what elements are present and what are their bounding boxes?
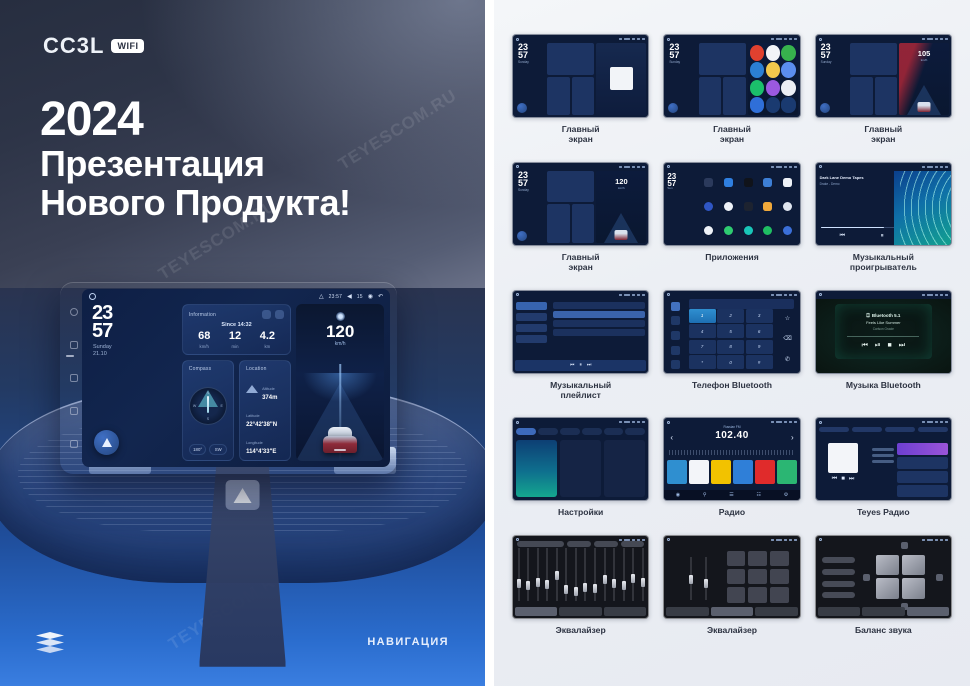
- eq-band[interactable]: [536, 545, 539, 605]
- gallery-caption: Музыкальныйплейлист: [550, 380, 611, 401]
- gallery-item[interactable]: ⏮ ⏸ ⏭ Музыкальныйплейлист: [512, 290, 649, 401]
- eq-band[interactable]: [574, 545, 577, 605]
- fader-sliders[interactable]: [683, 554, 713, 603]
- compass-dir-e: E: [221, 404, 223, 408]
- compass-dir-s: S: [207, 417, 209, 421]
- hero-headline-1: Презентация: [40, 145, 351, 184]
- radio-next-icon[interactable]: ›: [791, 433, 794, 442]
- hero-headline-2: Нового Продукта!: [40, 184, 351, 223]
- gallery-caption: Музыка Bluetooth: [846, 380, 921, 390]
- speaker-stage[interactable]: [872, 551, 929, 603]
- clock-date: 21.10: [88, 351, 177, 358]
- gallery-item[interactable]: Настройки: [512, 417, 649, 517]
- clock-day: Sunday: [88, 344, 177, 351]
- radio-presets[interactable]: [667, 460, 796, 484]
- presentation-page: TEYESCOM.RU TEYESCOM.RU TEYESCOM.RU: [0, 0, 970, 686]
- altitude-value: 374m: [262, 395, 277, 401]
- thumbnail-bt-music[interactable]: ⎅Bluetooth 5.1 Feels Like Summer Carlson…: [815, 290, 952, 374]
- back-icon[interactable]: ↶: [378, 294, 383, 300]
- gallery-item[interactable]: ⎅Bluetooth 5.1 Feels Like Summer Carlson…: [815, 290, 952, 401]
- compass-heading: 180°: [189, 444, 207, 455]
- equalizer-tabs[interactable]: [818, 607, 949, 616]
- compass-card[interactable]: Compass N E S W: [182, 360, 234, 461]
- bezel-volume-up-icon[interactable]: [70, 440, 78, 448]
- thumbnail-equalizer-presets[interactable]: [663, 535, 800, 619]
- stat-duration: 12 min: [229, 331, 241, 349]
- radio-tuning-scale[interactable]: [669, 450, 794, 455]
- search-icon[interactable]: ⚲: [703, 492, 707, 498]
- compass-quadrant: SW: [209, 444, 227, 455]
- wifi-settings-card[interactable]: [516, 440, 557, 497]
- list-icon[interactable]: ☰: [729, 492, 733, 498]
- gallery-item[interactable]: 2357Sunday Главныйэкран: [512, 34, 649, 145]
- gallery-caption: Музыкальныйпроигрыватель: [850, 252, 917, 273]
- car-3d-model: [323, 427, 357, 453]
- mountain-icon: [246, 385, 258, 393]
- carplay-settings-card[interactable]: [560, 440, 601, 497]
- bluetooth-icon: ⎅: [866, 313, 870, 318]
- bezel-home-icon[interactable]: [70, 341, 78, 349]
- status-bar: △ 23:57 ◀ 15 ◉ ↶: [82, 289, 390, 304]
- thumbnail-home-drive-105[interactable]: 2357Sunday 105km/h: [815, 34, 952, 118]
- gallery-caption: Настройки: [558, 507, 603, 517]
- thumbnail-bt-phone[interactable]: 1 2 3 4 5 6 7 8 9 * 0 # ☆: [663, 290, 800, 374]
- backspace-icon[interactable]: ⌫: [783, 335, 791, 342]
- eq-band[interactable]: [555, 545, 558, 605]
- clock-minutes: 57: [88, 322, 177, 340]
- product-logo: CC3L WIFI: [43, 33, 144, 59]
- thumbnail-home-drive-120[interactable]: 2357Sunday 120km/h: [512, 162, 649, 246]
- hero-panel: TEYESCOM.RU TEYESCOM.RU TEYESCOM.RU: [0, 0, 485, 686]
- more-settings-card[interactable]: [604, 440, 645, 497]
- radio-toolbar[interactable]: ◉ ⚲ ☰ ☷ ⚙: [664, 490, 799, 500]
- eq-band[interactable]: [594, 545, 597, 605]
- bt-track-artist: Carlson Gracie: [873, 327, 894, 331]
- pause-icon[interactable]: ⏸: [579, 362, 582, 368]
- balance-presets[interactable]: [822, 554, 854, 602]
- thumbnail-settings[interactable]: [512, 417, 649, 501]
- logo-text: CC3L: [43, 33, 104, 59]
- head-unit-screen[interactable]: △ 23:57 ◀ 15 ◉ ↶ 23 57 Sunday 21.10: [82, 289, 390, 467]
- gallery-item[interactable]: Russian FM ‹ 102.40 › ◉ ⚲ ☰ ☷ ⚙: [663, 417, 800, 517]
- compass-needle: [207, 396, 209, 413]
- stat-duration-value: 12: [229, 331, 241, 343]
- mini-speed-value: 105km/h: [899, 49, 949, 62]
- thumbnail-music-player[interactable]: Dark Lane Demo Tapes Drake - Demo ⏮ ⏸ ⏭: [815, 162, 952, 246]
- next-icon[interactable]: ⏭: [849, 476, 854, 483]
- previous-icon[interactable]: ⏮: [840, 233, 845, 240]
- latitude-value: 22°42'38"N: [246, 422, 284, 428]
- gallery-grid: 2357Sunday Главныйэкран: [512, 34, 952, 635]
- speed-unit: km/h: [296, 341, 384, 347]
- teyes-radio-player[interactable]: ⏮ ■ ⏭: [819, 443, 868, 497]
- thumbnail-apps[interactable]: 2357Sun: [663, 162, 800, 246]
- information-since: Since 14:32: [189, 322, 285, 328]
- eq-band[interactable]: [641, 545, 644, 605]
- teyes-radio-tabs[interactable]: [819, 427, 948, 432]
- bezel-volume-down-icon[interactable]: [70, 407, 78, 415]
- refresh-icon[interactable]: [262, 310, 271, 319]
- eq-band[interactable]: [603, 545, 606, 605]
- bezel-button-plus[interactable]: [66, 355, 74, 357]
- page-title: 2024 Презентация Нового Продукта!: [40, 96, 351, 223]
- stop-icon[interactable]: ■: [841, 476, 845, 483]
- gallery-item[interactable]: 2357Sunday Главныйэкран: [663, 34, 800, 145]
- eq-band[interactable]: [622, 545, 625, 605]
- dialpad-key[interactable]: 6: [746, 324, 773, 338]
- dialpad-key[interactable]: *: [689, 355, 716, 369]
- settings-tabs[interactable]: [516, 428, 645, 435]
- play-pause-icon[interactable]: ⏯: [875, 342, 881, 350]
- screenshot-gallery: 2357Sunday Главныйэкран: [485, 0, 970, 686]
- dialpad-key[interactable]: #: [746, 355, 773, 369]
- wifi-icon: △: [319, 294, 324, 300]
- bt-seek-bar[interactable]: [847, 336, 919, 337]
- screen-body: 23 57 Sunday 21.10 Information: [82, 304, 390, 467]
- mini-nav-fab: [820, 103, 830, 113]
- dialpad-key[interactable]: 5: [717, 324, 744, 338]
- album-art: [828, 443, 857, 472]
- eq-band[interactable]: [613, 545, 616, 605]
- dialpad-key[interactable]: 9: [746, 340, 773, 354]
- balance-right-button[interactable]: [936, 574, 943, 581]
- thumbnail-home-apps[interactable]: 2357Sunday: [663, 34, 800, 118]
- dialpad-key[interactable]: 1: [689, 309, 716, 323]
- balance-up-button[interactable]: [901, 542, 908, 549]
- dialpad-key[interactable]: 7: [689, 340, 716, 354]
- gallery-item[interactable]: Dark Lane Demo Tapes Drake - Demo ⏮ ⏸ ⏭ …: [815, 162, 952, 273]
- thumbnail-playlist[interactable]: ⏮ ⏸ ⏭: [512, 290, 649, 374]
- bezel-power-icon[interactable]: [70, 308, 78, 316]
- gallery-caption: Teyes Радио: [857, 507, 910, 517]
- stat-speed-unit: km/h: [198, 344, 210, 349]
- eq-band[interactable]: [584, 545, 587, 605]
- dialpad-key[interactable]: 2: [717, 309, 744, 323]
- stat-speed: 68 km/h: [198, 331, 210, 349]
- clock-column: 23 57 Sunday 21.10: [88, 304, 177, 461]
- layers-icon: [36, 632, 64, 654]
- equalizer-bands[interactable]: [517, 545, 644, 605]
- bt-version: Bluetooth 5.1: [872, 313, 901, 318]
- hero-year: 2024: [40, 96, 351, 145]
- mini-nav-fab: [517, 231, 527, 241]
- eq-band[interactable]: [527, 545, 530, 605]
- pause-icon[interactable]: ⏸: [881, 233, 884, 240]
- settings-icon[interactable]: ⚙: [784, 492, 788, 498]
- drive-view-panel[interactable]: 120 km/h: [296, 304, 384, 461]
- compass-dir-n: N: [207, 391, 210, 395]
- previous-icon[interactable]: ⏮: [832, 476, 837, 483]
- thumbnail-equalizer-bands[interactable]: [512, 535, 649, 619]
- eq-band[interactable]: [632, 545, 635, 605]
- speed-value: 120: [296, 323, 384, 340]
- home-icon[interactable]: [89, 293, 96, 300]
- longitude-label: Longitude: [246, 441, 263, 445]
- information-title: Information: [189, 312, 216, 318]
- eq-band[interactable]: [546, 545, 549, 605]
- gallery-caption: Главныйэкран: [864, 124, 902, 145]
- eq-slider[interactable]: [704, 554, 707, 603]
- navigation-fab-button[interactable]: [94, 430, 119, 455]
- information-card[interactable]: Information Since 14:32 68 km/h: [182, 304, 292, 355]
- gallery-caption: Эквалайзер: [707, 625, 757, 635]
- stat-duration-unit: min: [229, 344, 241, 349]
- dialpad-key[interactable]: 3: [746, 309, 773, 323]
- expand-icon[interactable]: [275, 310, 284, 319]
- previous-icon[interactable]: ⏮: [570, 362, 575, 368]
- eq-icon[interactable]: ☷: [757, 492, 761, 498]
- gallery-caption: Главныйэкран: [562, 124, 600, 145]
- app-grid[interactable]: [700, 172, 797, 242]
- thumbnail-home-music[interactable]: 2357Sunday: [512, 34, 649, 118]
- dialpad-key[interactable]: 0: [717, 355, 744, 369]
- stat-distance-unit: km: [260, 344, 275, 349]
- gallery-item[interactable]: Баланс звука: [815, 535, 952, 635]
- next-icon[interactable]: ⏭: [587, 362, 592, 368]
- compass-dir-w: W: [193, 404, 196, 408]
- eq-band[interactable]: [517, 545, 520, 605]
- status-volume: 15: [357, 294, 363, 300]
- settings-cards[interactable]: [516, 440, 645, 497]
- gallery-item[interactable]: 2357Sun Приложения: [663, 162, 800, 273]
- dialpad-key[interactable]: 8: [717, 340, 744, 354]
- dialpad-key[interactable]: 4: [689, 324, 716, 338]
- favorite-icon[interactable]: ☆: [785, 315, 790, 322]
- compass-rose: N E S W: [189, 372, 227, 441]
- stop-icon[interactable]: ■: [888, 342, 892, 350]
- gallery-item[interactable]: Эквалайзер: [663, 535, 800, 635]
- mini-speed-value: 120km/h: [596, 177, 646, 190]
- location-title: Location: [246, 366, 284, 372]
- track-title: Dark Lane Demo Tapes: [820, 175, 890, 180]
- wifi-badge: WIFI: [111, 39, 144, 53]
- bt-controls[interactable]: ⏮ ⏯ ■ ⏭: [862, 342, 905, 350]
- next-icon[interactable]: ⏭: [899, 342, 905, 350]
- phone-sidebar[interactable]: [664, 299, 686, 373]
- longitude-value: 114°4'33"E: [246, 449, 284, 455]
- gallery-item[interactable]: 2357Sunday 120km/h Главныйэкран: [512, 162, 649, 273]
- car-plate: [334, 449, 346, 452]
- equalizer-tabs[interactable]: [515, 607, 646, 616]
- stat-distance: 4.2 km: [260, 331, 275, 349]
- headlight-icon: [336, 312, 345, 321]
- location-card[interactable]: Location Altitude 374m Latitude: [239, 360, 291, 461]
- speed-readout: 120 km/h: [296, 312, 384, 347]
- gallery-caption: Главныйэкран: [562, 252, 600, 273]
- station-list[interactable]: [897, 443, 948, 497]
- altitude-label: Altitude: [262, 387, 275, 391]
- gallery-item[interactable]: 1 2 3 4 5 6 7 8 9 * 0 # ☆: [663, 290, 800, 401]
- gear-icon[interactable]: ◉: [368, 294, 373, 300]
- latitude-label: Latitude: [246, 414, 260, 418]
- visualizer: [894, 171, 951, 245]
- head-unit-device: △ 23:57 ◀ 15 ◉ ↶ 23 57 Sunday 21.10: [60, 282, 397, 474]
- dialpad[interactable]: 1 2 3 4 5 6 7 8 9 * 0 #: [689, 309, 773, 370]
- gallery-caption: Радио: [719, 507, 745, 517]
- preset-buttons[interactable]: [727, 551, 789, 603]
- gallery-caption: Баланс звука: [855, 625, 912, 635]
- station-meta: [872, 448, 894, 463]
- volume-icon[interactable]: ◀: [347, 294, 352, 300]
- gallery-caption: Телефон Bluetooth: [692, 380, 772, 390]
- mini-nav-fab: [517, 103, 527, 113]
- hero-nav-label: НАВИГАЦИЯ: [367, 636, 449, 648]
- widgets-column: Information Since 14:32 68 km/h: [182, 304, 292, 461]
- track-artist: Drake - Demo: [820, 182, 890, 186]
- eq-band[interactable]: [565, 545, 568, 605]
- thumbnail-radio[interactable]: Russian FM ‹ 102.40 › ◉ ⚲ ☰ ☷ ⚙: [663, 417, 800, 501]
- balance-left-button[interactable]: [863, 574, 870, 581]
- bezel-back-icon[interactable]: [70, 374, 78, 382]
- gallery-caption: Главныйэкран: [713, 124, 751, 145]
- call-icon[interactable]: ✆: [785, 356, 790, 363]
- thumbnail-teyes-radio[interactable]: ⏮ ■ ⏭: [815, 417, 952, 501]
- radio-frequency: 102.40: [664, 430, 799, 441]
- bt-track-title: Feels Like Summer: [866, 320, 900, 325]
- bezel-button-strip[interactable]: [67, 296, 81, 460]
- gallery-caption: Приложения: [705, 252, 758, 262]
- band-icon[interactable]: ◉: [676, 492, 680, 498]
- gallery-caption: Эквалайзер: [556, 625, 606, 635]
- equalizer-tabs[interactable]: [666, 607, 797, 616]
- radio-band: Russian FM: [664, 425, 799, 429]
- stat-distance-value: 4.2: [260, 331, 275, 343]
- gallery-item[interactable]: ⏮ ■ ⏭ Teyes Радио: [815, 417, 952, 517]
- gallery-item[interactable]: Эквалайзер: [512, 535, 649, 635]
- eq-slider[interactable]: [689, 554, 692, 603]
- gallery-item[interactable]: 2357Sunday 105km/h Главныйэкран: [815, 34, 952, 145]
- phone-actions[interactable]: ☆ ⌫ ✆: [778, 309, 797, 370]
- status-time: 23:57: [329, 294, 343, 300]
- previous-icon[interactable]: ⏮: [862, 342, 868, 350]
- hazard-triangle-icon: [226, 480, 260, 510]
- playlist-player-bar[interactable]: ⏮ ⏸ ⏭: [515, 360, 646, 371]
- thumbnail-sound-balance[interactable]: [815, 535, 952, 619]
- stat-speed-value: 68: [198, 331, 210, 343]
